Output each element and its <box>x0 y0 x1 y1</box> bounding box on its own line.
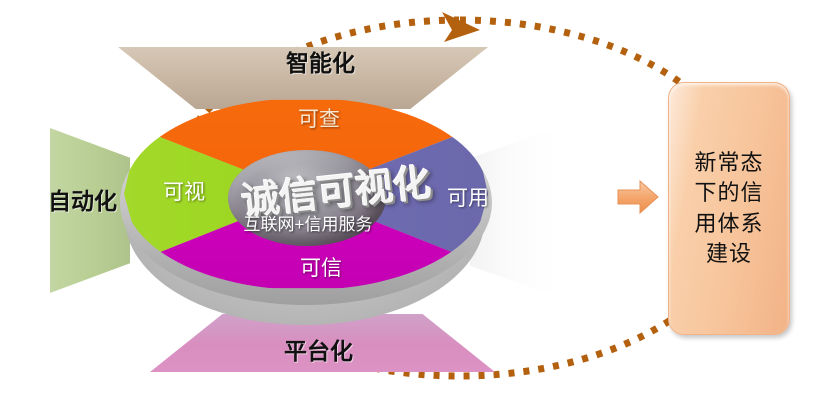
right-arrow-icon <box>616 178 660 216</box>
sector-label-right: 可用 <box>447 188 489 209</box>
flap-label-top: 智能化 <box>286 52 355 75</box>
center-subtitle: 互联网+信用服务 <box>232 210 384 235</box>
flap-label-bottom: 平台化 <box>284 340 353 363</box>
result-panel[interactable]: 新常态 下的信 用体系 建设 <box>668 82 790 335</box>
sector-label-bottom: 可信 <box>300 258 342 279</box>
result-line-1: 新常态 <box>694 148 763 178</box>
result-line-3: 用体系 <box>694 209 763 239</box>
sector-label-top: 可查 <box>298 109 340 130</box>
sector-label-left: 可视 <box>163 182 205 203</box>
diagram-canvas: 可查 可视 可用 可信 诚信可视化 互联网+信用服务 智能化 自动化 平台化 新… <box>0 0 820 411</box>
result-line-4: 建设 <box>694 239 763 269</box>
result-panel-text: 新常态 下的信 用体系 建设 <box>694 148 763 269</box>
flap-label-left: 自动化 <box>48 190 117 213</box>
result-line-2: 下的信 <box>694 178 763 208</box>
